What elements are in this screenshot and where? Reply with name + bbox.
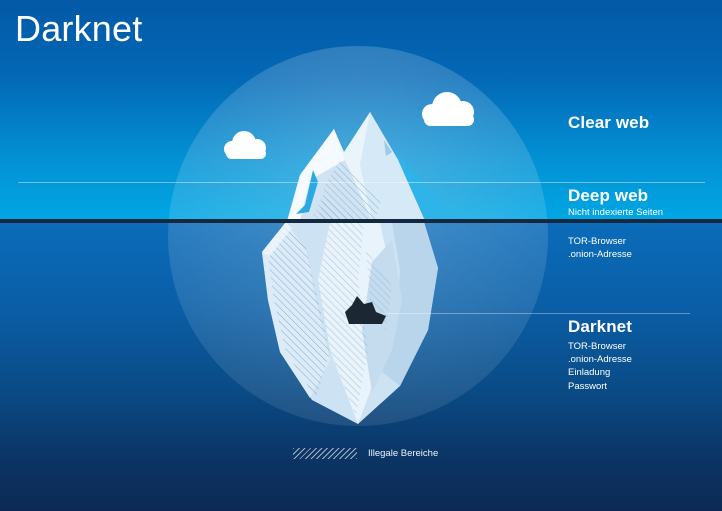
deep-web-item-1: .onion-Adresse	[568, 248, 632, 261]
label-darknet: Darknet TOR-Browser .onion-Adresse Einla…	[568, 317, 632, 393]
legend-label: Illegale Bereiche	[368, 448, 438, 459]
page-title: Darknet	[15, 8, 142, 50]
darknet-rule	[383, 313, 690, 314]
cloud-icon-large	[422, 92, 476, 128]
infographic-canvas: Darknet Clear web Deep web Nicht indexie…	[0, 0, 722, 511]
legend: Illegale Bereiche	[293, 448, 438, 459]
deep-web-heading: Deep web	[568, 186, 663, 206]
label-deep-web-items: TOR-Browser .onion-Adresse	[568, 235, 632, 261]
legend-hatch-swatch	[293, 448, 357, 459]
waterline-divider	[0, 219, 722, 223]
clear-web-heading: Clear web	[568, 113, 649, 133]
deep-web-item-0: TOR-Browser	[568, 235, 632, 248]
darknet-heading: Darknet	[568, 317, 632, 337]
darknet-item-3: Passwort	[568, 380, 632, 393]
deep-web-rule	[18, 182, 705, 183]
deep-web-subtitle: Nicht indexierte Seiten	[568, 206, 663, 219]
label-deep-web: Deep web Nicht indexierte Seiten	[568, 186, 663, 219]
darknet-item-2: Einladung	[568, 366, 632, 379]
darknet-item-1: .onion-Adresse	[568, 353, 632, 366]
label-clear-web: Clear web	[568, 113, 649, 133]
darknet-item-0: TOR-Browser	[568, 340, 632, 353]
cloud-icon-small	[224, 131, 268, 161]
